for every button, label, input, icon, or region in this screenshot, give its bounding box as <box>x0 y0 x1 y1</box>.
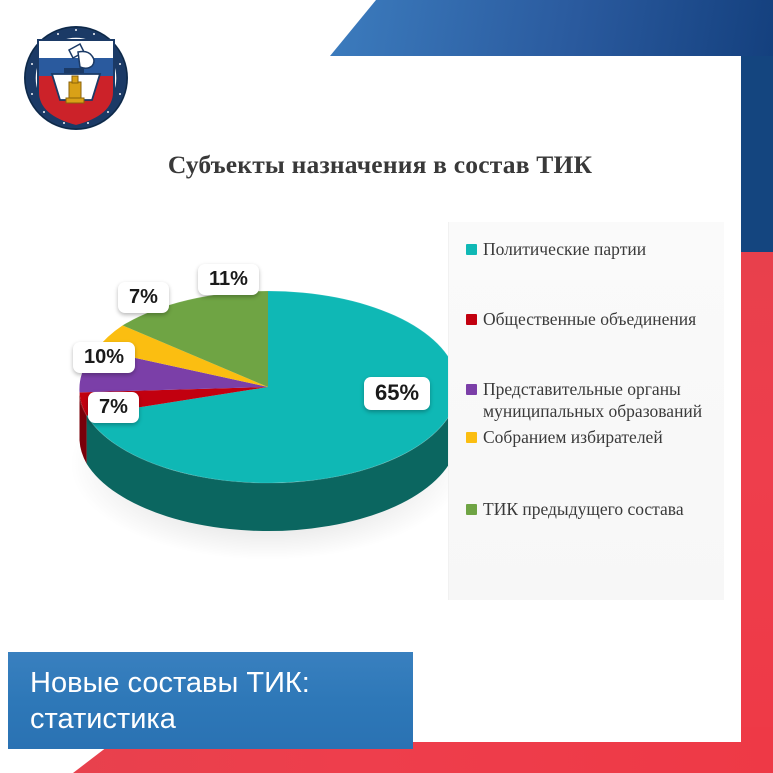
legend-item-label: ТИК предыдущего состава <box>483 498 684 520</box>
bottom-title-banner: Новые составы ТИК: статистика <box>8 652 413 749</box>
legend-swatch-icon <box>466 504 477 515</box>
decorative-blue-right-bar <box>732 0 773 262</box>
legend-swatch-icon <box>466 244 477 255</box>
legend-swatch-icon <box>466 314 477 325</box>
pie-data-label-obshchestvennye-obedineniya: 7% <box>88 392 139 423</box>
legend-item-obshchestvennye-obedineniya[interactable]: Общественные объединения <box>448 308 724 330</box>
legend-item-label: Политические партии <box>483 238 646 260</box>
election-commission-emblem-icon <box>22 24 130 132</box>
page-title: Субъекты назначения в состав ТИК <box>60 150 700 180</box>
legend-item-tik-predydushchego-sostava[interactable]: ТИК предыдущего состава <box>448 498 724 520</box>
legend-swatch-icon <box>466 384 477 395</box>
legend-item-politicheskie-partii[interactable]: Политические партии <box>448 238 724 260</box>
legend-swatch-icon <box>466 432 477 443</box>
legend-item-sobraniem-izbiratelei[interactable]: Собранием избирателей <box>448 426 724 448</box>
legend-item-predstavitelnye-organy[interactable]: Представительные органы муниципальных об… <box>448 378 724 422</box>
legend-item-label: Общественные объединения <box>483 308 696 330</box>
pie-chart-graphic: 65% 7% 10% 7% 11% <box>58 232 478 572</box>
chart-legend: Политические партии Общественные объедин… <box>448 222 724 600</box>
pie-data-label-politicheskie-partii: 65% <box>364 377 430 410</box>
pie-chart-figure: 65% 7% 10% 7% 11% Политические партии Об… <box>48 222 724 602</box>
decorative-red-right-bar <box>732 252 773 773</box>
bottom-title-text: Новые составы ТИК: статистика <box>30 665 413 737</box>
slide-canvas: Субъекты назначения в состав ТИК <box>0 0 773 773</box>
pie-data-label-predstavitelnye-organy: 10% <box>73 342 135 373</box>
decorative-blue-top-banner <box>330 0 773 56</box>
pie-data-label-sobraniem-izbiratelei: 7% <box>118 282 169 313</box>
legend-item-label: Собранием избирателей <box>483 426 663 448</box>
pie-data-label-tik-predydushchego-sostava: 11% <box>198 264 259 295</box>
legend-item-label: Представительные органы муниципальных об… <box>483 378 716 422</box>
